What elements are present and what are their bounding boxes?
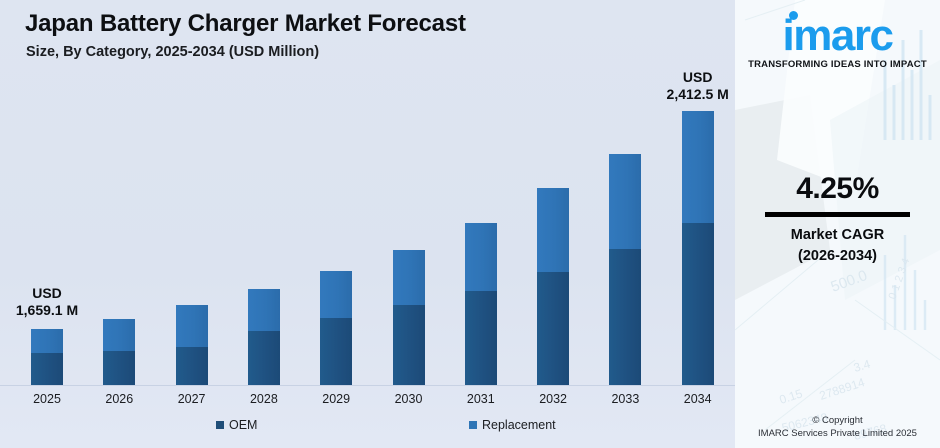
x-axis-tick-2025: 2025 — [17, 392, 77, 406]
x-axis-tick-2034: 2034 — [668, 392, 728, 406]
legend-label: OEM — [229, 418, 257, 432]
bar-segment-replacement-2031 — [465, 223, 497, 291]
bar-segment-replacement-2025 — [31, 329, 63, 354]
legend-swatch-icon — [469, 421, 477, 429]
bar-segment-oem-2030 — [393, 305, 425, 385]
chart-infographic: Japan Battery Charger Market Forecast Si… — [0, 0, 940, 448]
chart-legend: OEMReplacement — [0, 418, 735, 440]
legend-item-replacement[interactable]: Replacement — [469, 418, 556, 432]
bar-2028 — [248, 289, 280, 385]
bar-segment-replacement-2032 — [537, 188, 569, 272]
bar-segment-oem-2028 — [248, 331, 280, 385]
cagr-callout: 4.25% Market CAGR (2026-2034) — [735, 172, 940, 267]
copyright-notice: © Copyright IMARC Services Private Limit… — [735, 414, 940, 440]
bar-2026 — [103, 319, 135, 385]
x-axis-line — [0, 385, 735, 386]
logo-dot-icon — [789, 11, 798, 20]
bar-segment-replacement-2034 — [682, 111, 714, 223]
bar-segment-replacement-2026 — [103, 319, 135, 351]
bar-2033 — [609, 154, 641, 385]
value-label-first: USD 1,659.1 M — [0, 285, 107, 319]
legend-item-oem[interactable]: OEM — [216, 418, 257, 432]
bar-2031 — [465, 223, 497, 385]
x-axis-tick-2032: 2032 — [523, 392, 583, 406]
bar-2025 — [31, 329, 63, 385]
bar-segment-oem-2026 — [103, 351, 135, 385]
x-axis-tick-2026: 2026 — [89, 392, 149, 406]
bar-segment-replacement-2030 — [393, 250, 425, 305]
brand-panel: 500.0 0 1 2 3 4 0.15 2788914 5062348 897… — [735, 0, 940, 448]
bar-segment-oem-2034 — [682, 223, 714, 385]
logo-tagline: TRANSFORMING IDEAS INTO IMPACT — [735, 59, 940, 70]
bar-2034 — [682, 111, 714, 385]
bar-2029 — [320, 271, 352, 385]
logo-text: imarc — [783, 11, 893, 60]
cagr-period: (2026-2034) — [735, 246, 940, 267]
cagr-divider — [765, 212, 910, 217]
bar-2030 — [393, 250, 425, 385]
bar-2032 — [537, 188, 569, 385]
x-axis-tick-2028: 2028 — [234, 392, 294, 406]
bar-segment-replacement-2027 — [176, 305, 208, 347]
bar-segment-oem-2031 — [465, 291, 497, 385]
bar-segment-oem-2025 — [31, 353, 63, 385]
legend-swatch-icon — [216, 421, 224, 429]
imarc-logo: imarc TRANSFORMING IDEAS INTO IMPACT — [735, 14, 940, 70]
chart-panel: Japan Battery Charger Market Forecast Si… — [0, 0, 735, 448]
x-axis-tick-2031: 2031 — [451, 392, 511, 406]
bar-segment-oem-2029 — [320, 318, 352, 385]
bar-segment-replacement-2033 — [609, 154, 641, 249]
bar-segment-replacement-2028 — [248, 289, 280, 331]
legend-label: Replacement — [482, 418, 556, 432]
plot-area — [0, 0, 735, 385]
bar-segment-oem-2033 — [609, 249, 641, 385]
logo-wordmark: imarc — [783, 14, 893, 58]
bar-segment-oem-2027 — [176, 347, 208, 385]
bar-2027 — [176, 305, 208, 385]
x-axis-tick-2029: 2029 — [306, 392, 366, 406]
cagr-value: 4.25% — [735, 172, 940, 206]
x-axis-tick-2030: 2030 — [379, 392, 439, 406]
value-label-first-line2: 1,659.1 M — [0, 302, 107, 319]
x-axis-labels: 2025202620272028202920302031203220332034 — [0, 388, 735, 414]
cagr-label: Market CAGR — [735, 225, 940, 246]
x-axis-tick-2033: 2033 — [595, 392, 655, 406]
copyright-line-1: © Copyright — [735, 414, 940, 427]
bar-segment-oem-2032 — [537, 272, 569, 385]
value-label-first-line1: USD — [0, 285, 107, 302]
bar-segment-replacement-2029 — [320, 271, 352, 318]
copyright-line-2: IMARC Services Private Limited 2025 — [735, 427, 940, 440]
x-axis-tick-2027: 2027 — [162, 392, 222, 406]
